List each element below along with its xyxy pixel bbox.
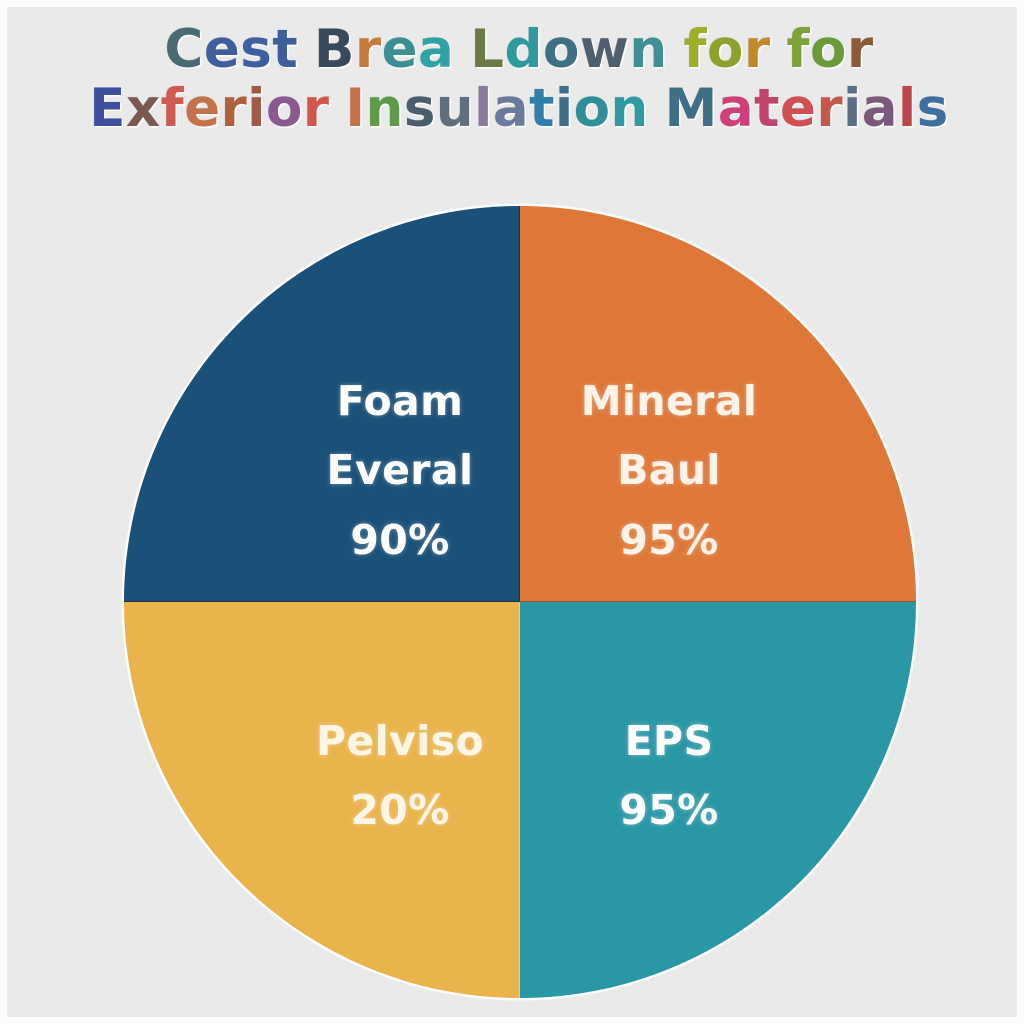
title-letter: o: [543, 21, 580, 78]
title-letter: s: [240, 21, 272, 78]
title-letter: C: [164, 21, 203, 78]
title-letter: L: [470, 21, 504, 78]
title-letter: x: [126, 80, 161, 137]
title-letter: u: [436, 80, 474, 137]
title-letter: a: [493, 80, 529, 137]
pie-label-foam-everal-value: 90%: [270, 515, 530, 565]
title-letter: r: [355, 21, 382, 78]
title-letter: f: [161, 80, 185, 137]
title-letter: e: [382, 21, 418, 78]
title-letter: o: [266, 80, 303, 137]
title-letter: d: [504, 21, 542, 78]
title-letter: r: [303, 80, 330, 137]
title-letter: o: [707, 21, 744, 78]
title-letter: E: [89, 80, 126, 137]
chart-title: CestBreaLdownforfor ExferiorInsulationMa…: [7, 21, 1024, 137]
title-letter: i: [555, 80, 574, 137]
title-letter: B: [314, 21, 355, 78]
pie-label-pelviso: Pelviso 20%: [270, 696, 530, 855]
title-letter: r: [847, 21, 874, 78]
title-letter: e: [780, 80, 816, 137]
title-letter: i: [843, 80, 862, 137]
title-letter: M: [665, 80, 718, 137]
title-letter: t: [272, 21, 298, 78]
title-letter: e: [204, 21, 240, 78]
pie-label-eps: EPS 95%: [544, 696, 794, 855]
pie-chart: Foam Everal 90% Mineral Baul 95% Pelviso…: [124, 206, 916, 998]
title-letter: e: [184, 80, 220, 137]
pie-label-pelviso-name: Pelviso: [270, 716, 530, 766]
title-letter: t: [529, 80, 555, 137]
title-letter: o: [574, 80, 611, 137]
title-letter: n: [629, 21, 667, 78]
pie-label-eps-value: 95%: [544, 785, 794, 835]
title-letter: w: [580, 21, 629, 78]
chart-title-line-1: CestBreaLdownforfor: [7, 21, 1024, 78]
title-letter: r: [816, 80, 843, 137]
title-letter: l: [474, 80, 493, 137]
title-letter: f: [786, 21, 810, 78]
chart-canvas: CestBreaLdownforfor ExferiorInsulationMa…: [0, 0, 1024, 1024]
title-letter: f: [683, 21, 707, 78]
pie-label-foam-everal: Foam Everal 90%: [270, 356, 530, 584]
title-letter: o: [810, 21, 847, 78]
title-letter: a: [418, 21, 454, 78]
pie-circle: [124, 206, 916, 998]
chart-title-line-2: ExferiorInsulationMaterials: [7, 80, 1024, 137]
title-letter: n: [366, 80, 404, 137]
title-letter: a: [718, 80, 754, 137]
title-letter: s: [404, 80, 436, 137]
title-letter: n: [611, 80, 649, 137]
pie-label-pelviso-value: 20%: [270, 785, 530, 835]
title-letter: s: [917, 80, 949, 137]
pie-label-mineral-baul: Mineral Baul 95%: [524, 356, 814, 584]
pie-label-mineral-baul-name-1: Mineral: [524, 376, 814, 426]
pie-label-mineral-baul-value: 95%: [524, 515, 814, 565]
pie-label-foam-everal-name-1: Foam: [270, 376, 530, 426]
title-letter: i: [247, 80, 266, 137]
pie-label-eps-name: EPS: [544, 716, 794, 766]
title-letter: r: [221, 80, 248, 137]
pie-label-mineral-baul-name-2: Baul: [524, 445, 814, 495]
title-letter: r: [744, 21, 771, 78]
title-letter: t: [754, 80, 780, 137]
title-letter: I: [345, 80, 365, 137]
title-letter: l: [898, 80, 917, 137]
title-letter: a: [862, 80, 898, 137]
pie-label-foam-everal-name-2: Everal: [270, 445, 530, 495]
